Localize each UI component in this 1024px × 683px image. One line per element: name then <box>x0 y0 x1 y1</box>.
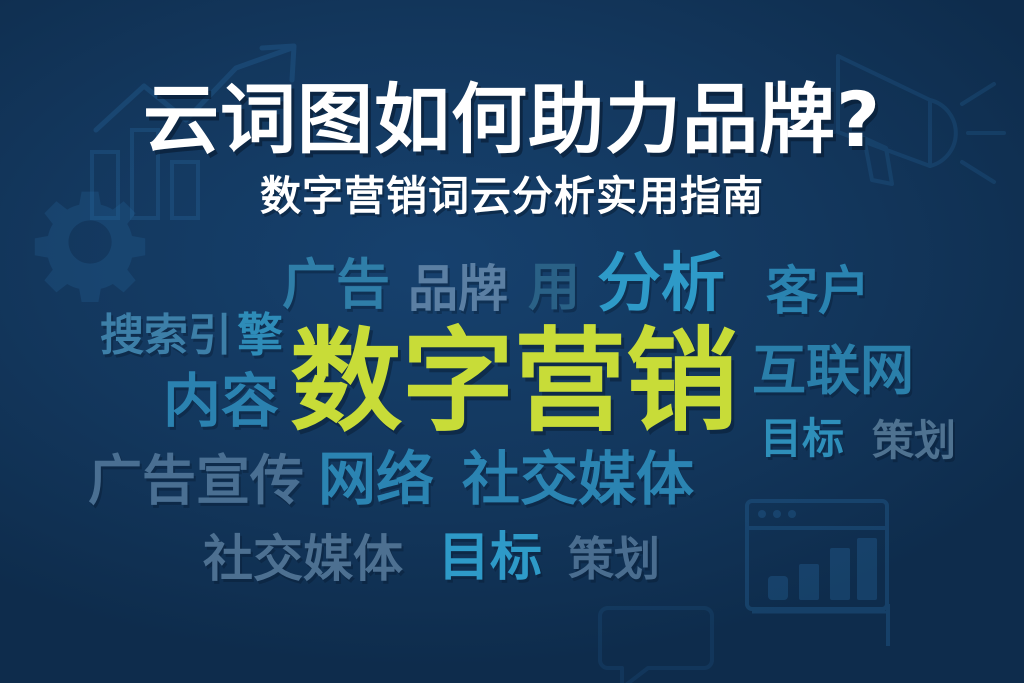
cloud-word: 内容 <box>163 372 279 430</box>
poster-canvas: 云词图如何助力品牌? 数字营销词云分析实用指南 广告品牌用分析客户搜索引擎内容数… <box>0 0 1024 683</box>
cloud-word: 目标 <box>438 532 542 584</box>
cloud-word: 社交媒体 <box>203 534 403 584</box>
cloud-word: 用 <box>528 262 580 314</box>
cloud-word: 分析 <box>597 252 725 316</box>
cloud-word: 客户 <box>766 266 870 318</box>
cloud-word: 广告 <box>282 258 390 312</box>
cloud-word: 搜索引 <box>100 314 232 358</box>
page-title: 云词图如何助力品牌? <box>0 82 1024 158</box>
cloud-word: 策划 <box>872 420 956 462</box>
cloud-word: 擎 <box>237 312 283 358</box>
heading-block: 云词图如何助力品牌? 数字营销词云分析实用指南 <box>0 82 1024 217</box>
cloud-word: 数字营销 <box>290 326 738 438</box>
word-cloud: 广告品牌用分析客户搜索引擎内容数字营销互联网目标策划广告宣传网络社交媒体社交媒体… <box>0 248 1024 608</box>
cloud-word: 目标 <box>760 418 844 460</box>
cloud-word: 互联网 <box>752 344 914 398</box>
cloud-word: 网络 <box>318 450 434 508</box>
cloud-word: 广告宣传 <box>88 454 304 508</box>
page-subtitle: 数字营销词云分析实用指南 <box>0 176 1024 217</box>
cloud-word: 品牌 <box>408 264 508 314</box>
speech-bubble-icon <box>596 600 716 683</box>
cloud-word: 社交媒体 <box>462 450 694 508</box>
cloud-word: 策划 <box>568 536 660 582</box>
